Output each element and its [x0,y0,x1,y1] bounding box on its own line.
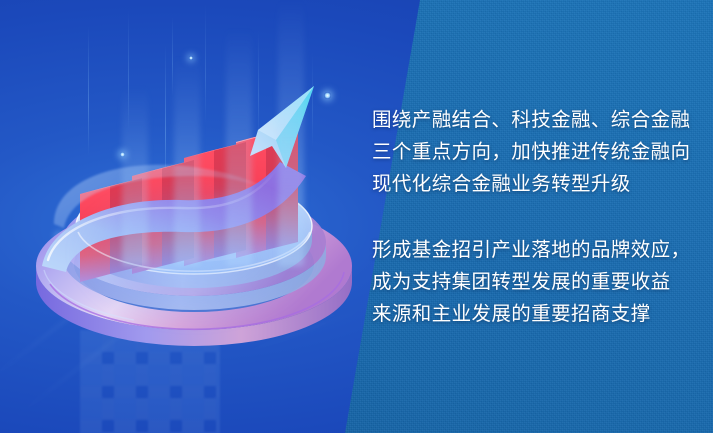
paragraph-one: 围绕产融结合、科技金融、综合金融 三个重点方向，加快推进传统金融向 现代化综合金… [372,104,702,200]
bar-light-beam [122,86,148,266]
slide-canvas: 围绕产融结合、科技金融、综合金融 三个重点方向，加快推进传统金融向 现代化综合金… [0,0,713,433]
paragraph-two-line-2: 成为支持集团转型发展的重要收益 [372,266,702,298]
paragraph-two-line-3: 来源和主业发展的重要招商支撑 [372,298,702,330]
bar-light-beam [226,28,252,266]
growth-chart-illustration [14,28,374,358]
paragraph-one-line-2: 三个重点方向，加快推进传统金融向 [372,136,702,168]
bar-light-beam [174,56,200,266]
paragraph-one-line-3: 现代化综合金融业务转型升级 [372,168,702,200]
text-column: 围绕产融结合、科技金融、综合金融 三个重点方向，加快推进传统金融向 现代化综合金… [372,104,702,330]
paragraph-two: 形成基金招引产业落地的品牌效应， 成为支持集团转型发展的重要收益 来源和主业发展… [372,234,702,330]
paragraph-one-line-1: 围绕产融结合、科技金融、综合金融 [372,104,702,136]
paragraph-two-line-1: 形成基金招引产业落地的品牌效应， [372,234,702,266]
bar-light-beam [278,0,304,266]
